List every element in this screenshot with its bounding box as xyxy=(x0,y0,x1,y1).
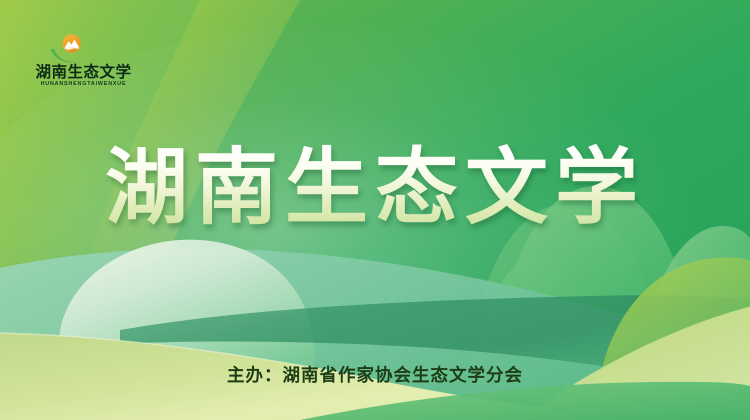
main-title: 湖南生态文学 xyxy=(0,140,750,236)
logo-wordmark-text: 湖南生态文学 xyxy=(26,64,141,82)
ecology-literature-banner: 湖南生态文学 HUNANSHENGTAIWENXUE 湖南生态文学 主办：湖南省… xyxy=(0,0,750,420)
brand-logo[interactable]: 湖南生态文学 HUNANSHENGTAIWENXUE xyxy=(26,22,141,94)
circular-swirl-mountain-logo-icon xyxy=(43,22,89,66)
organiser-line: 主办：湖南省作家协会生态文学分会 xyxy=(0,363,750,387)
logo-pinyin-text: HUNANSHENGTAIWENXUE xyxy=(25,81,142,88)
